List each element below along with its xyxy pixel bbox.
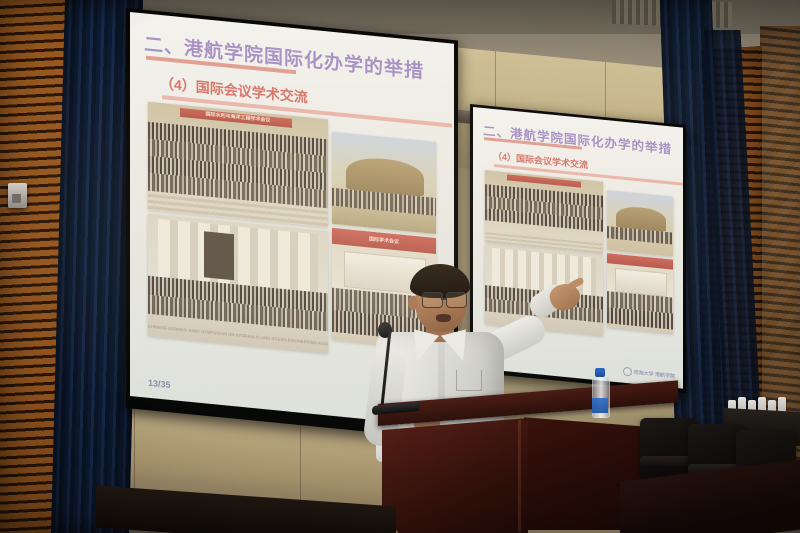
slide2-photo-top-left: [485, 170, 603, 254]
glasses-icon: [422, 292, 468, 307]
slide-photo-top-left: 国际水利与海洋工程学术会议: [148, 102, 328, 228]
slide2-photo-bottom-right: [607, 253, 673, 333]
slide-logo-text: 河海大学 港航学院: [634, 369, 675, 380]
lectern-edge: [518, 420, 521, 532]
slide-page-number: 13/35: [148, 378, 171, 390]
bottle-cap: [595, 368, 605, 377]
presenter-ear: [408, 296, 418, 310]
lecture-hall-photo: 二、港航学院国际化办学的举措 （4）国际会议学术交流 国际水利与海洋工程学术会议: [0, 0, 800, 533]
wall-mounted-speaker: [8, 183, 27, 208]
shirt-pocket: [456, 370, 482, 391]
seal-icon: [623, 367, 632, 377]
slide-photo-bottom-left: CHINESE-GERMAN JOINT SYMPOSIUM ON HYDRAU…: [148, 214, 328, 354]
lectern-front-panel: [382, 418, 528, 533]
slide2-photo-top-right: [607, 190, 673, 256]
slide-institution-logo: 河海大学 港航学院: [623, 367, 675, 381]
water-bottle: [592, 368, 608, 416]
bottle-label: [592, 398, 608, 413]
presenter-mouth: [436, 314, 451, 322]
slide-photo-top-right: [332, 132, 436, 234]
